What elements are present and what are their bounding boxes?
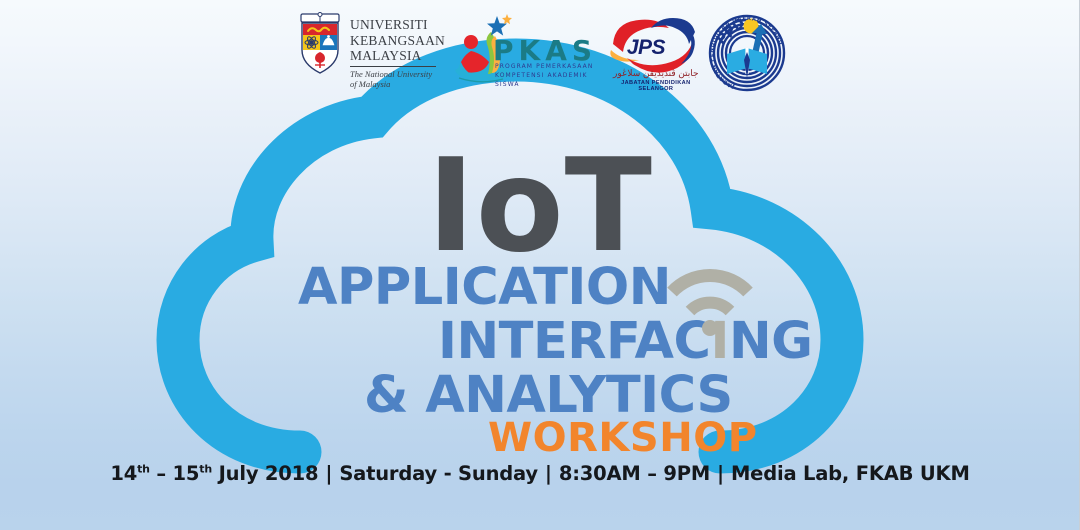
footer-separator-3: | xyxy=(710,462,731,485)
event-date-sup2: th xyxy=(199,463,212,476)
event-date-day1: 14 xyxy=(110,462,137,485)
event-date-day2: 15 xyxy=(173,462,200,485)
footer-separator-2: | xyxy=(538,462,559,485)
ukm-line-3: MALAYSIA xyxy=(350,49,445,63)
ppd-seal-icon: JABATAN PENDIDIKAN DAERAH SEPANG PPD xyxy=(705,12,789,94)
event-time: 8:30AM – 9PM xyxy=(559,462,710,485)
cloud-outline-path xyxy=(178,60,842,452)
ukm-subtitle-2: of Malaysia xyxy=(350,79,445,89)
ukm-subtitle-1: The National University xyxy=(350,69,445,79)
event-date-sup1: th xyxy=(137,463,150,476)
pkas-logo: PKAS PROGRAM PEMERKASAAN KOMPETENSI AKAD… xyxy=(453,12,599,92)
logo-bar: UNIVERSITI KEBANGSAAN MALAYSIA The Natio… xyxy=(296,12,796,94)
jps-jawi-text: جابتن ڤنديديقن سلاڠور xyxy=(613,68,699,79)
event-venue: Media Lab, FKAB UKM xyxy=(731,462,970,485)
event-date-dash: – xyxy=(156,462,166,485)
event-days: Saturday - Sunday xyxy=(339,462,538,485)
footer-separator-1: | xyxy=(318,462,339,485)
ukm-logo: UNIVERSITI KEBANGSAAN MALAYSIA The Natio… xyxy=(296,12,445,92)
iot-workshop-banner: UNIVERSITI KEBANGSAAN MALAYSIA The Natio… xyxy=(0,0,1080,530)
ppd-logo: JABATAN PENDIDIKAN DAERAH SEPANG PPD xyxy=(705,12,796,94)
ukm-line-2: KEBANGSAAN xyxy=(350,34,445,48)
jps-department-name: JABATAN PENDIDIKAN SELANGOR xyxy=(609,80,703,92)
pkas-tagline: PROGRAM PEMERKASAAN KOMPETENSI AKADEMIK … xyxy=(495,62,599,89)
ukm-shield-icon xyxy=(296,12,344,76)
jps-logo: JPS جابتن ڤنديديقن سلاڠور JABATAN PENDID… xyxy=(605,12,704,92)
event-details-footer: 14th – 15th July 2018|Saturday - Sunday|… xyxy=(0,462,1080,485)
ukm-line-1: UNIVERSITI xyxy=(350,18,445,32)
ukm-logo-text: UNIVERSITI KEBANGSAAN MALAYSIA The Natio… xyxy=(350,12,445,89)
ukm-divider xyxy=(350,66,436,67)
jps-wordmark: JPS xyxy=(627,36,665,60)
event-month-year: July 2018 xyxy=(219,462,319,485)
